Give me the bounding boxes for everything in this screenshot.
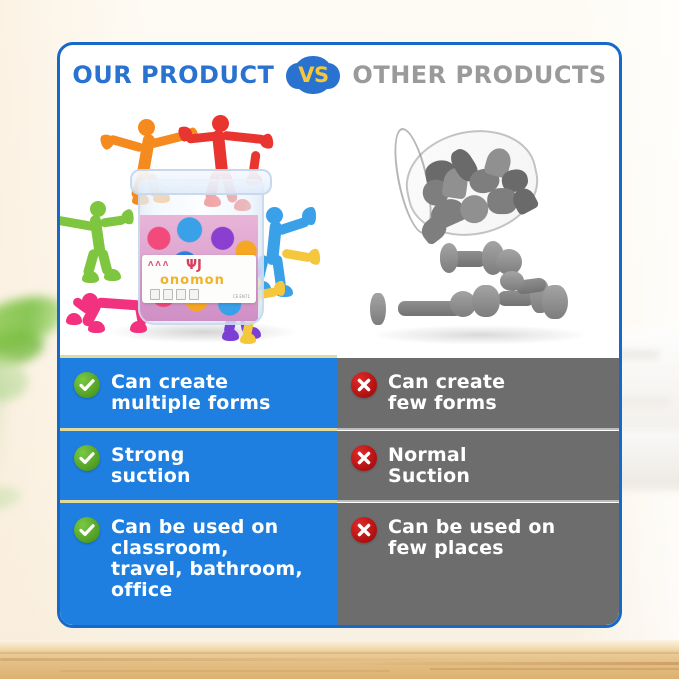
- wood-grain: [330, 662, 679, 665]
- bucket-label-art2: ΨJ: [186, 258, 202, 273]
- our-product-cell: Can be used on classroom, travel, bathro…: [60, 503, 337, 625]
- bucket-label-brand: onomon: [160, 273, 225, 288]
- x-circle-icon: [351, 445, 377, 471]
- our-product-photo: ΛΛΛ ΨJ onomon CE EN71: [60, 103, 339, 358]
- our-product-title: OUR PRODUCT: [72, 61, 274, 89]
- gray-toy-pile: [407, 127, 540, 242]
- wood-grain: [60, 670, 390, 672]
- product-photos: ΛΛΛ ΨJ onomon CE EN71: [60, 103, 619, 358]
- wood-grain: [430, 668, 679, 670]
- card-header: OUR PRODUCT VS OTHER PRODUCTS: [60, 45, 619, 105]
- check-circle-icon: [74, 445, 100, 471]
- plant-stem: [0, 372, 6, 482]
- product-shadow: [370, 325, 590, 345]
- other-products-feature: Can be used on few places: [388, 516, 555, 559]
- table-row: Can create multiple forms Can create few…: [60, 358, 619, 428]
- product-bucket: [138, 179, 264, 325]
- bucket-lid: [130, 169, 272, 195]
- row-separator: [337, 428, 619, 430]
- our-product-feature: Can be used on classroom, travel, bathro…: [111, 516, 303, 601]
- comparison-card: OUR PRODUCT VS OTHER PRODUCTS: [57, 42, 622, 628]
- other-products-cell: Normal Suction: [337, 431, 619, 500]
- bucket-label-art: ΛΛΛ: [148, 260, 170, 268]
- other-products-cell: Can create few forms: [337, 358, 619, 428]
- comparison-table: Can create multiple forms Can create few…: [60, 358, 619, 625]
- our-product-cell: Strong suction: [60, 431, 337, 500]
- other-products-cell: Can be used on few places: [337, 503, 619, 625]
- our-product-feature: Strong suction: [111, 444, 191, 487]
- other-products-title: OTHER PRODUCTS: [352, 61, 606, 89]
- vs-badge: VS: [286, 54, 340, 96]
- other-products-photo: [340, 103, 619, 358]
- bucket-label: ΛΛΛ ΨJ onomon CE EN71: [142, 255, 256, 303]
- bucket-label-icons: [150, 289, 199, 300]
- row-separator: [337, 500, 619, 502]
- check-circle-icon: [74, 372, 100, 398]
- x-circle-icon: [351, 517, 377, 543]
- vs-label: VS: [298, 63, 328, 87]
- wood-grain: [0, 658, 500, 661]
- our-product-feature: Can create multiple forms: [111, 371, 271, 414]
- check-circle-icon: [74, 517, 100, 543]
- wood-grain: [0, 652, 679, 654]
- table-row: Strong suction Normal Suction: [60, 431, 619, 500]
- table-row: Can be used on classroom, travel, bathro…: [60, 503, 619, 625]
- other-products-feature: Can create few forms: [388, 371, 505, 414]
- other-products-feature: Normal Suction: [388, 444, 470, 487]
- our-product-cell: Can create multiple forms: [60, 358, 337, 428]
- bucket-label-fineprint: CE EN71: [233, 294, 250, 299]
- x-circle-icon: [351, 372, 377, 398]
